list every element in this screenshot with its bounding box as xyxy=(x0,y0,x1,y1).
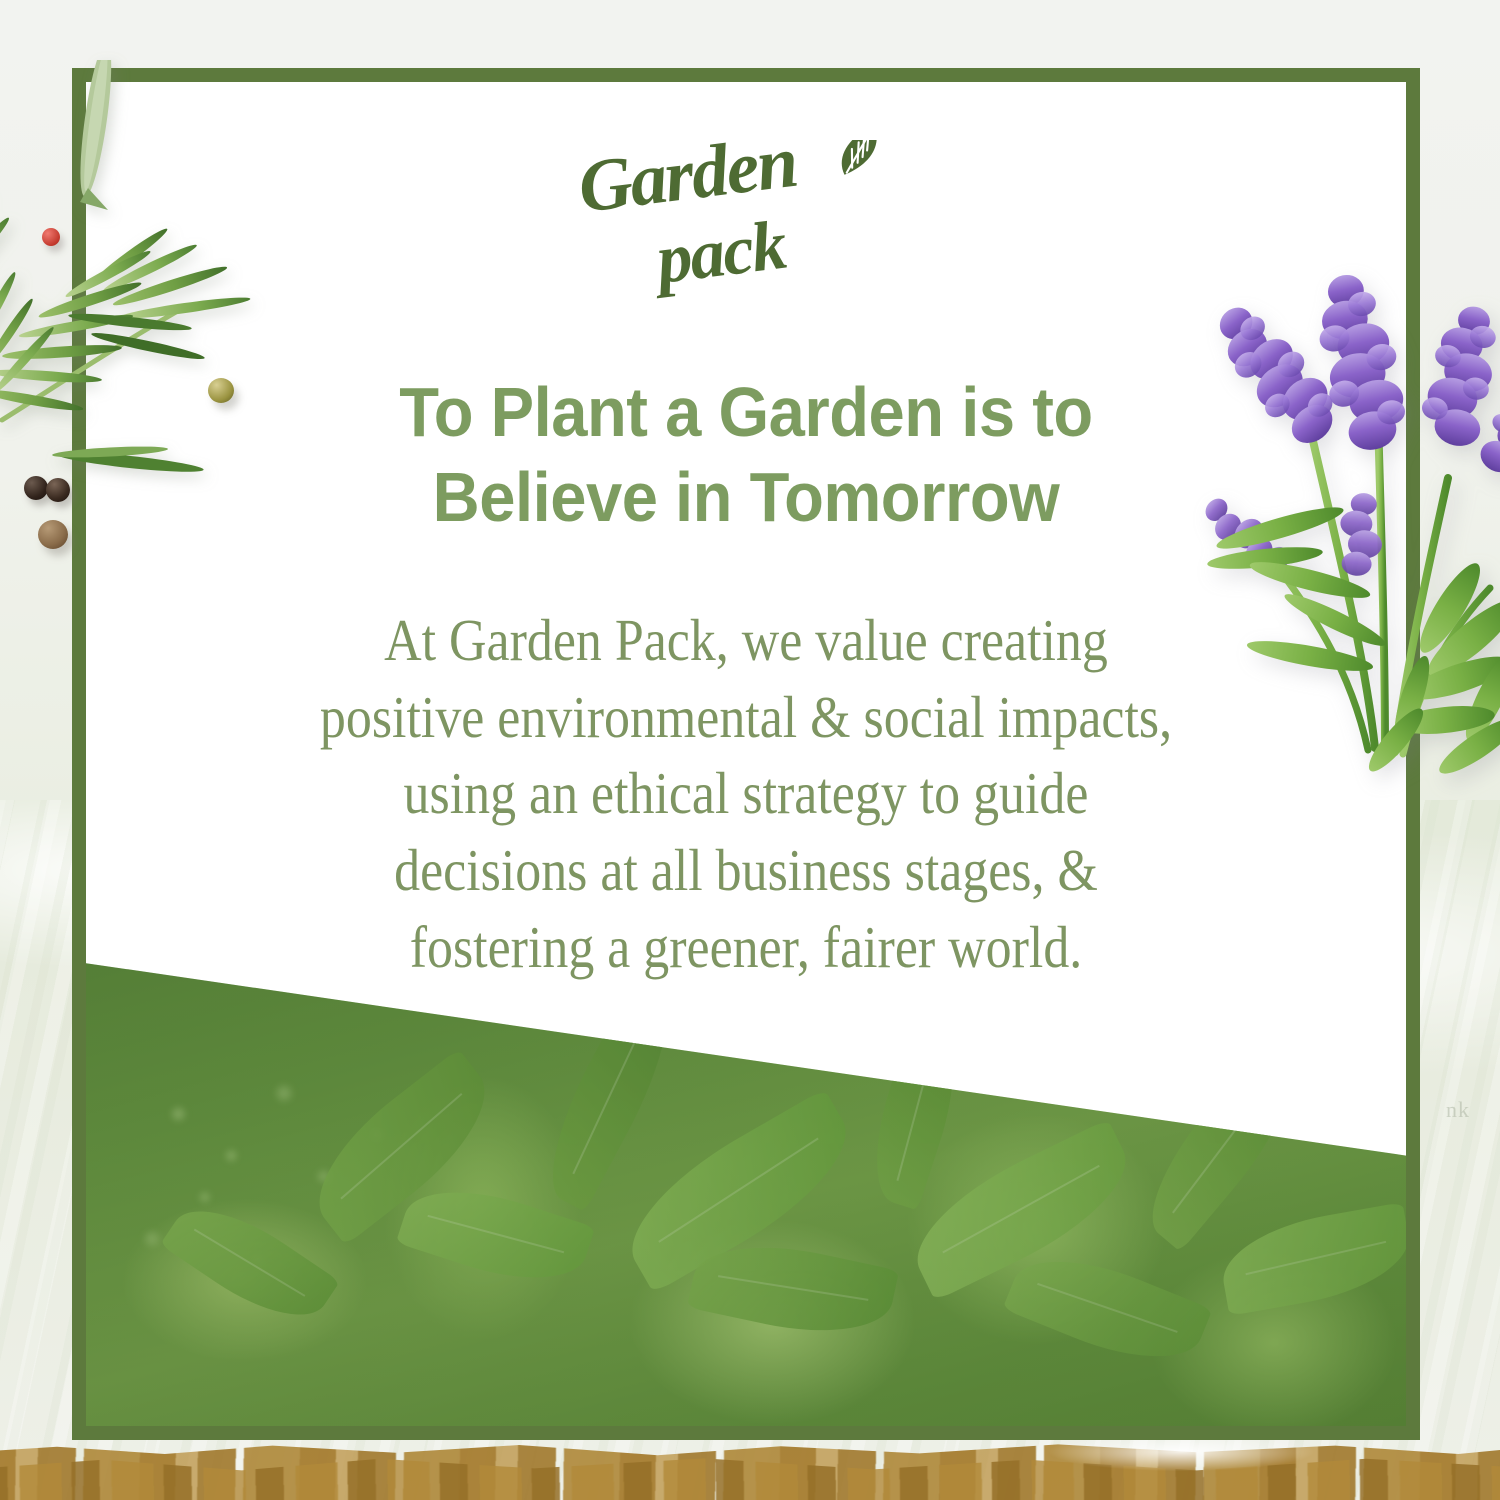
brush-stroke-highlight xyxy=(0,1438,1500,1472)
body-line-1: At Garden Pack, we value creating xyxy=(258,602,1235,679)
body-line-5: fostering a greener, fairer world. xyxy=(258,909,1235,986)
watermark-text: nk xyxy=(1446,1097,1470,1123)
body-paragraph: At Garden Pack, we value creating positi… xyxy=(86,602,1406,985)
leaf-icon xyxy=(830,140,887,175)
card-inner: Garden pack xyxy=(86,82,1406,1426)
brand-logo[interactable]: Garden pack xyxy=(576,140,916,305)
headline: To Plant a Garden is to Believe in Tomor… xyxy=(86,370,1406,541)
content-frame: Garden pack xyxy=(72,68,1420,1440)
svg-text:pack: pack xyxy=(648,207,791,300)
body-line-2: positive environmental & social impacts, xyxy=(258,679,1235,756)
body-line-4: decisions at all business stages, & xyxy=(258,832,1235,909)
headline-line-1: To Plant a Garden is to xyxy=(216,370,1276,455)
headline-line-2: Believe in Tomorrow xyxy=(216,455,1276,540)
body-line-3: using an ethical strategy to guide xyxy=(258,755,1235,832)
poster-canvas: nk Garden pack xyxy=(0,0,1500,1500)
